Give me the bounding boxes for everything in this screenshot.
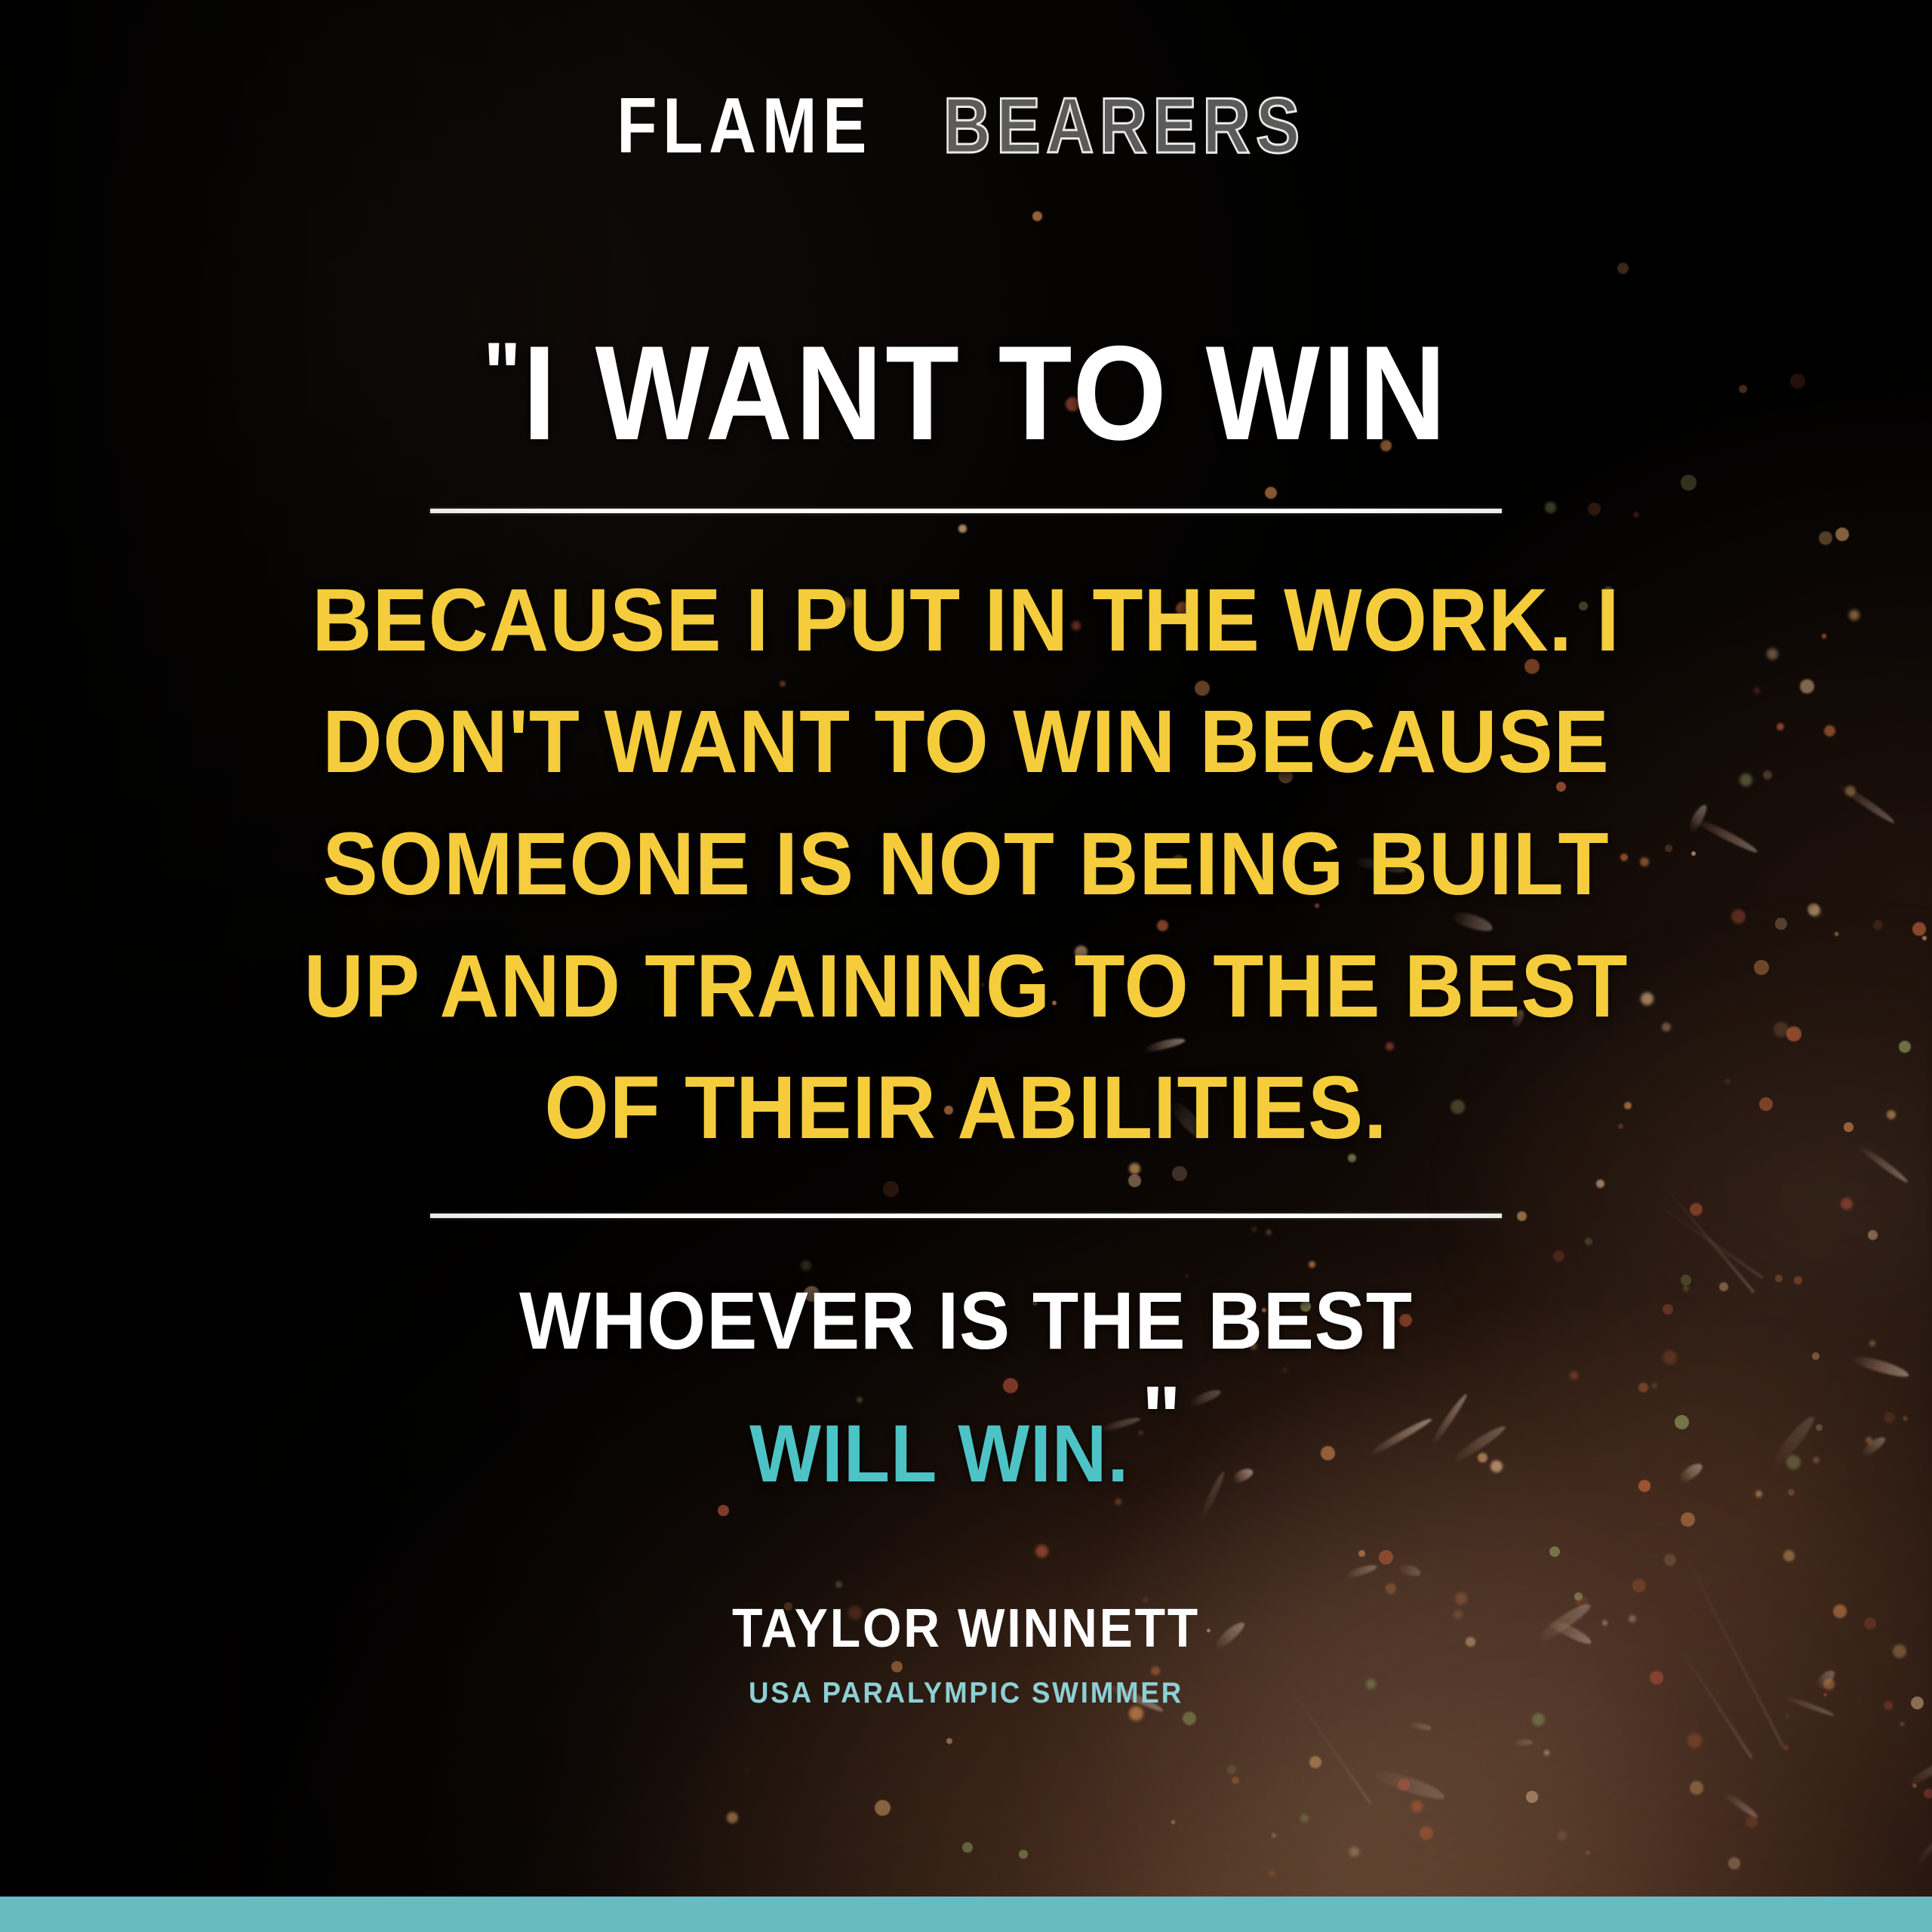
quote-body-line: BECAUSE I PUT IN THE WORK. I (68, 560, 1865, 682)
ember-spark (835, 1581, 842, 1588)
ember-spark (1786, 1714, 1789, 1718)
brand-word-bearers: BEARERS (943, 82, 1306, 171)
headline-text: I WANT TO WIN (522, 318, 1448, 468)
ember-spark (1183, 1712, 1196, 1725)
ember-spark (1783, 1550, 1795, 1561)
close-quote-mark: " (1142, 1374, 1183, 1463)
ember-spark (875, 1800, 891, 1816)
ember-spark (1912, 1783, 1917, 1788)
quote-headline: "I WANT TO WIN (97, 325, 1835, 462)
ember-spark (1232, 1777, 1239, 1784)
quote-body-line: OF THEIR ABILITIES. (68, 1048, 1865, 1170)
ember-spark (1272, 1833, 1276, 1838)
ember-spark (1227, 1765, 1236, 1774)
quote-body-line: SOMEONE IS NOT BEING BUILT (68, 804, 1865, 926)
attribution-role: USA PARALYMPIC SWIMMER (58, 1676, 1874, 1712)
ember-streak (1407, 1721, 1432, 1731)
ember-spark (1526, 1791, 1538, 1803)
ember-spark (1386, 1583, 1396, 1594)
ember-spark (1586, 1850, 1590, 1855)
ember-spark (946, 1738, 952, 1744)
ember-spark (1687, 1734, 1702, 1748)
ember-spark (1035, 1545, 1048, 1558)
ember-spark (1358, 1550, 1365, 1557)
ember-streak (1721, 1790, 1759, 1820)
attribution-name: TAYLOR WINNETT (77, 1598, 1854, 1660)
closing-line-white: WHOEVER IS THE BEST (68, 1268, 1865, 1374)
quote-closing: WHOEVER IS THE BEST WILL WIN." (0, 1268, 1932, 1507)
ember-spark (1019, 1850, 1028, 1859)
quote-body: BECAUSE I PUT IN THE WORK. I DON'T WANT … (0, 560, 1932, 1170)
ember-spark (1617, 263, 1629, 274)
ember-spark (1032, 211, 1042, 221)
ember-spark (1379, 1550, 1393, 1564)
ember-spark (1411, 1801, 1423, 1812)
closing-line-teal-row: WILL WIN." (68, 1374, 1865, 1506)
ember-spark (1664, 1554, 1676, 1566)
closing-text-teal: WILL WIN. (749, 1407, 1129, 1499)
ember-spark (745, 1768, 749, 1772)
open-quote-mark: " (483, 330, 522, 419)
ember-spark (1632, 1579, 1646, 1592)
ember-spark (1269, 1871, 1275, 1876)
ember-spark (1309, 1756, 1321, 1768)
ember-spark (1349, 1847, 1359, 1857)
ember-spark (1420, 1826, 1433, 1840)
ember-spark (1558, 1831, 1567, 1840)
ember-streak (1905, 1758, 1932, 1789)
ember-spark (1171, 1820, 1175, 1824)
attribution: TAYLOR WINNETT USA PARALYMPIC SWIMMER (0, 1598, 1932, 1711)
ember-streak (1512, 1739, 1533, 1746)
quote-card: FLAMEBEARERS "I WANT TO WIN BECAUSE I PU… (0, 0, 1932, 1932)
ember-spark (1783, 1745, 1789, 1750)
ember-spark (727, 1812, 738, 1823)
divider-rule-bottom (430, 1214, 1502, 1218)
ember-streak (1344, 1562, 1378, 1580)
ember-spark (1544, 1750, 1549, 1755)
ember-spark (1532, 1713, 1545, 1726)
ember-spark (1300, 1814, 1309, 1823)
quote-body-line: DON'T WANT TO WIN BECAUSE (68, 681, 1865, 804)
ember-spark (1398, 1779, 1410, 1791)
ember-spark (962, 1842, 973, 1853)
footer-accent-bar (0, 1897, 1932, 1932)
ember-spark (1728, 1857, 1740, 1869)
ember-spark (1690, 1781, 1703, 1795)
brand-word-flame: FLAME (617, 82, 872, 171)
ember-spark (1746, 1816, 1758, 1828)
quote-body-line: UP AND TRAINING TO THE BEST (68, 926, 1865, 1048)
ember-streak (1370, 1766, 1447, 1804)
ember-streak (1913, 1833, 1932, 1868)
ember-spark (1681, 1512, 1695, 1527)
ember-spark (1900, 1722, 1904, 1726)
ember-spark (1549, 1546, 1560, 1557)
brand-logo: FLAMEBEARERS (0, 82, 1932, 171)
divider-rule-top (430, 509, 1502, 513)
ember-spark (1924, 1789, 1932, 1798)
quote-block: "I WANT TO WIN BECAUSE I PUT IN THE WORK… (0, 325, 1932, 1507)
ember-streak (1396, 1563, 1422, 1578)
